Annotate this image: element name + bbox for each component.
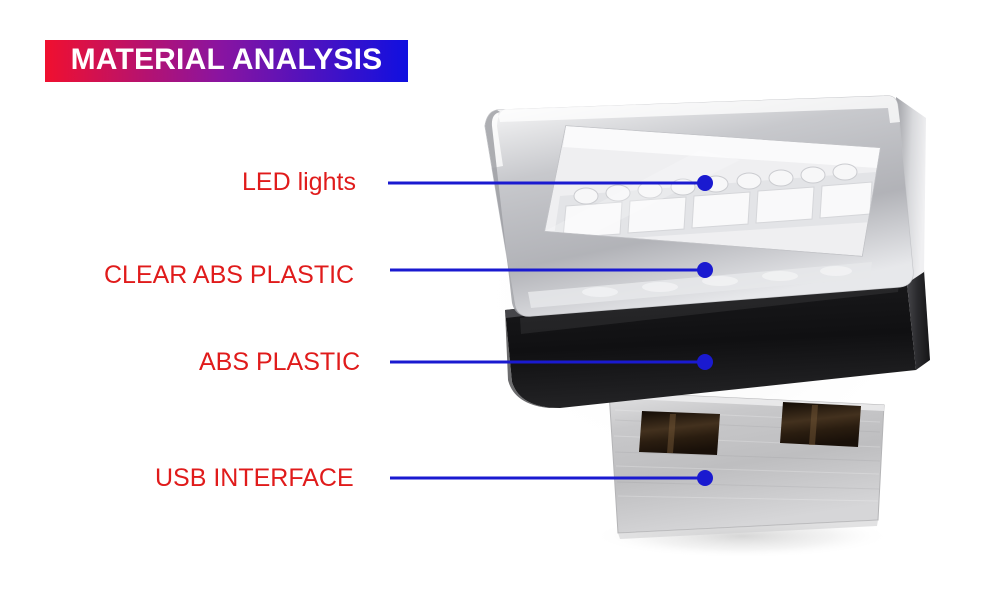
material-analysis-banner: MATERIAL ANALYSIS <box>45 40 408 82</box>
callout-dot-led-lights[interactable] <box>697 175 713 191</box>
usb-notch-right <box>780 402 861 447</box>
clear-abs-housing <box>485 96 926 317</box>
callout-label-clear-abs-plastic: CLEAR ABS PLASTIC <box>104 263 354 288</box>
callout-dot-abs-plastic[interactable] <box>697 354 713 370</box>
callout-label-led-lights: LED lights <box>242 170 356 195</box>
callout-dot-clear-abs-plastic[interactable] <box>697 262 713 278</box>
callout-label-usb-interface: USB INTERFACE <box>155 466 354 491</box>
infographic-canvas: MATERIAL ANALYSIS LED lightsCLEAR ABS PL… <box>0 0 1000 598</box>
banner-title: MATERIAL ANALYSIS <box>71 45 383 77</box>
usb-connector <box>609 392 884 539</box>
usb-notch-left <box>639 411 720 455</box>
callout-label-abs-plastic: ABS PLASTIC <box>199 350 360 375</box>
product-illustration <box>0 0 1000 598</box>
callout-dot-usb-interface[interactable] <box>697 470 713 486</box>
